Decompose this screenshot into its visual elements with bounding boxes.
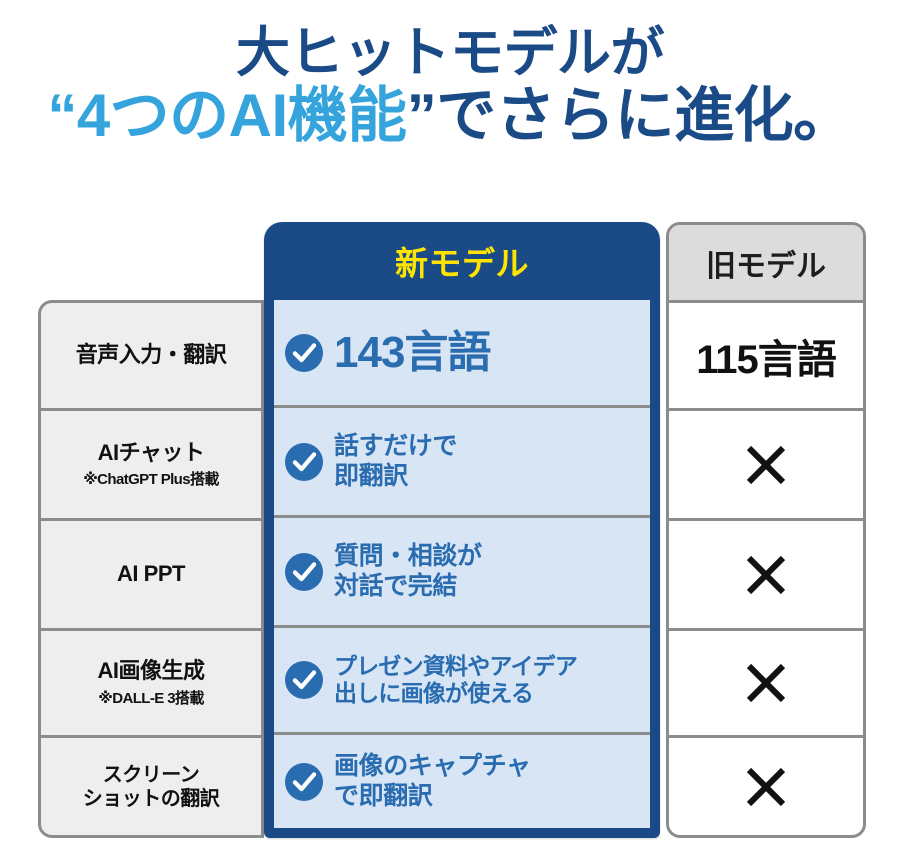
- new-model-value-line2: 出しに画像が使える: [334, 680, 577, 707]
- new-model-cells: 143言語 話すだけで 即翻訳 質問・相談が: [274, 300, 650, 828]
- table-row: 質問・相談が 対話で完結: [274, 515, 650, 625]
- new-model-value: 質問・相談が 対話で完結: [334, 542, 482, 601]
- comparison-table: 音声入力・翻訳 AIチャット ※ChatGPT Plus搭載 AI PPT AI…: [0, 0, 900, 850]
- table-row: 話すだけで 即翻訳: [274, 405, 650, 515]
- feature-note: ※DALL-E 3搭載: [98, 687, 203, 708]
- table-row: 画像のキャプチャ で即翻訳: [274, 732, 650, 828]
- new-model-value-line1: 話すだけで: [334, 432, 457, 462]
- table-row: プレゼン資料やアイデア 出しに画像が使える: [274, 625, 650, 732]
- new-model-value: 143言語: [334, 331, 490, 375]
- table-row: AI PPT: [41, 518, 261, 628]
- new-model-column: 新モデル 143言語 話すだけで 即翻訳: [264, 222, 660, 838]
- feature-note: ※ChatGPT Plus搭載: [83, 468, 219, 489]
- feature-label: 音声入力・翻訳: [76, 342, 227, 368]
- old-model-header: 旧モデル: [669, 225, 863, 303]
- check-circle-icon: [284, 552, 324, 592]
- table-row: AIチャット ※ChatGPT Plus搭載: [41, 408, 261, 518]
- table-row: [669, 628, 863, 735]
- check-circle-icon: [284, 442, 324, 482]
- feature-label-line2: ショットの翻訳: [83, 787, 220, 811]
- table-row: [669, 735, 863, 835]
- table-row: [669, 408, 863, 518]
- check-circle-icon: [284, 762, 324, 802]
- table-row: [669, 518, 863, 628]
- new-model-value-line2: 対話で完結: [334, 572, 482, 602]
- feature-label: AI PPT: [117, 561, 185, 587]
- new-model-value: 話すだけで 即翻訳: [334, 432, 457, 491]
- new-model-value: プレゼン資料やアイデア 出しに画像が使える: [334, 653, 577, 707]
- table-row: 143言語: [274, 300, 650, 405]
- table-row: 音声入力・翻訳: [41, 303, 261, 408]
- new-model-value-line1: 画像のキャプチャ: [334, 752, 531, 782]
- new-model-header: 新モデル: [264, 222, 660, 300]
- new-model-value: 画像のキャプチャ で即翻訳: [334, 752, 531, 811]
- table-row: AI画像生成 ※DALL-E 3搭載: [41, 628, 261, 735]
- old-model-value: 115言語: [696, 327, 836, 385]
- check-circle-icon: [284, 333, 324, 373]
- feature-label: スクリーン: [103, 763, 200, 787]
- cross-icon: [743, 660, 789, 706]
- check-circle-icon: [284, 660, 324, 700]
- new-model-value-line1: 質問・相談が: [334, 542, 482, 572]
- table-row: 115言語: [669, 303, 863, 408]
- old-model-column: 旧モデル 115言語: [666, 222, 866, 838]
- feature-label: AI画像生成: [97, 658, 204, 684]
- new-model-value-line1: プレゼン資料やアイデア: [334, 653, 577, 680]
- cross-icon: [743, 764, 789, 810]
- new-model-value-line1: 143言語: [334, 331, 490, 375]
- cross-icon: [743, 552, 789, 598]
- feature-column: 音声入力・翻訳 AIチャット ※ChatGPT Plus搭載 AI PPT AI…: [38, 300, 264, 838]
- new-model-value-line2: 即翻訳: [334, 462, 457, 492]
- new-model-value-line2: で即翻訳: [334, 782, 531, 812]
- feature-label: AIチャット: [98, 440, 205, 466]
- cross-icon: [743, 442, 789, 488]
- table-row: スクリーン ショットの翻訳: [41, 735, 261, 835]
